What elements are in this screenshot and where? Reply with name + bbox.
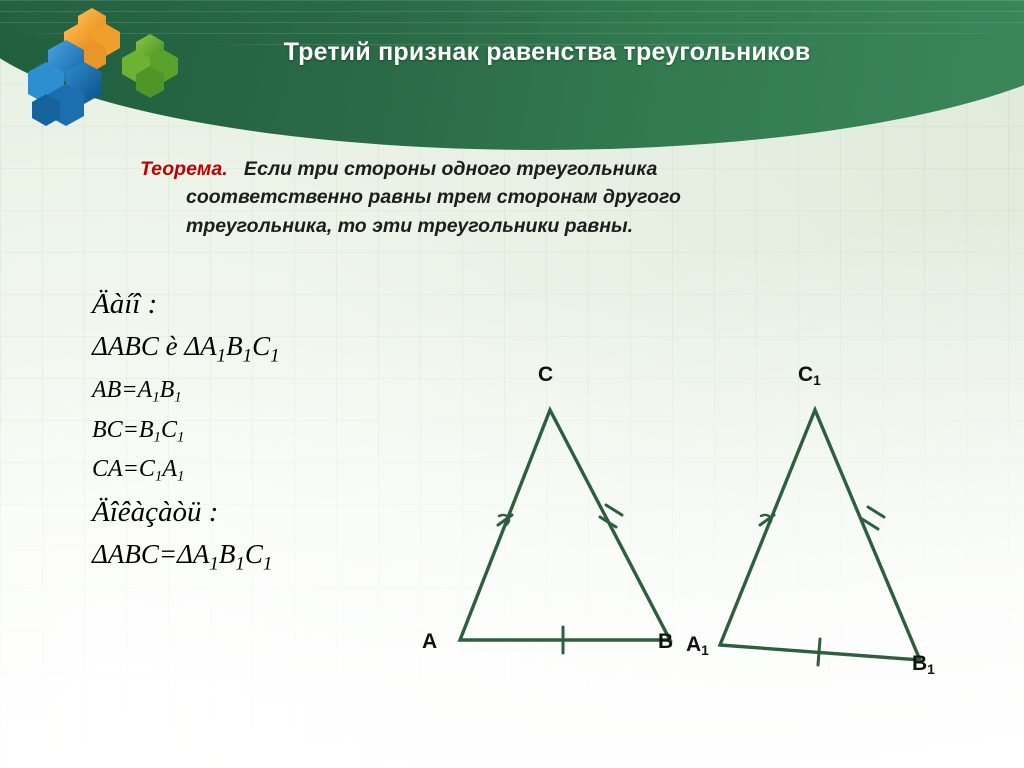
theorem-block: Теорема. Если три стороны одного треугол… bbox=[140, 155, 860, 240]
slide: Третий признак равенства треугольников bbox=[0, 0, 1024, 768]
sub-1c: 1 bbox=[270, 345, 279, 366]
label-vertex-c1: C1 bbox=[798, 363, 821, 388]
triangles-figure: C A B C1 A1 B1 bbox=[400, 355, 1000, 685]
eq2-sub-1: 1 bbox=[154, 429, 161, 445]
eq3-right: A bbox=[162, 456, 177, 482]
eq1-sub-2: 1 bbox=[174, 390, 181, 406]
given-label-row: Äàíî : bbox=[92, 288, 482, 321]
label-vertex-b: B bbox=[658, 630, 673, 654]
label-vertex-c: C bbox=[538, 363, 553, 387]
label-vertex-a1-sub: 1 bbox=[701, 642, 709, 658]
given-triangles-b: B bbox=[226, 331, 243, 361]
eq2-sub-2: 1 bbox=[177, 429, 184, 445]
conclusion-c: C bbox=[245, 539, 263, 569]
triangle-abc bbox=[460, 410, 670, 640]
conc-sub-3: 1 bbox=[263, 553, 272, 574]
eq1-right: B bbox=[160, 377, 175, 403]
sub-1a: 1 bbox=[217, 345, 226, 366]
label-vertex-a1-letter: A bbox=[686, 633, 701, 656]
theorem-text-1: Если три стороны одного треугольника bbox=[244, 158, 657, 180]
eq3-left: CA=C bbox=[92, 456, 155, 482]
eq2-left: BC=B bbox=[92, 417, 154, 443]
eq2-right: C bbox=[161, 417, 177, 443]
prove-label: Äîêàçàòü bbox=[92, 496, 202, 528]
given-colon: : bbox=[148, 288, 158, 320]
given-triangles-a: ΔABC è ΔA bbox=[92, 331, 217, 361]
conc-sub-1: 1 bbox=[209, 553, 218, 574]
label-vertex-a: A bbox=[422, 630, 437, 654]
eq1-left: AB=A bbox=[92, 377, 152, 403]
puzzle-logo-icon bbox=[8, 2, 198, 152]
prove-colon: : bbox=[209, 496, 219, 528]
theorem-line-1: Теорема. Если три стороны одного треугол… bbox=[140, 155, 860, 183]
label-vertex-c1-letter: C bbox=[798, 363, 813, 386]
conclusion-a: ΔABC=ΔA bbox=[92, 539, 209, 569]
theorem-text-3: треугольника, то эти треугольники равны. bbox=[140, 212, 860, 240]
label-vertex-b1-letter: B bbox=[912, 652, 927, 675]
triangle-a1b1c1 bbox=[720, 410, 920, 660]
label-vertex-b1: B1 bbox=[912, 652, 935, 677]
eq3-sub-2: 1 bbox=[177, 469, 184, 485]
eq1-sub-1: 1 bbox=[152, 390, 159, 406]
theorem-text-2: соответственно равны трем сторонам друго… bbox=[140, 183, 860, 211]
label-vertex-a1: A1 bbox=[686, 633, 709, 658]
label-vertex-c1-sub: 1 bbox=[813, 372, 821, 388]
conclusion-b: B bbox=[219, 539, 236, 569]
label-vertex-b1-sub: 1 bbox=[927, 661, 935, 677]
sub-1b: 1 bbox=[243, 345, 252, 366]
given-label: Äàíî bbox=[92, 288, 140, 320]
given-triangles-c: C bbox=[252, 331, 270, 361]
theorem-keyword: Теорема. bbox=[140, 158, 228, 180]
conc-sub-2: 1 bbox=[235, 553, 244, 574]
